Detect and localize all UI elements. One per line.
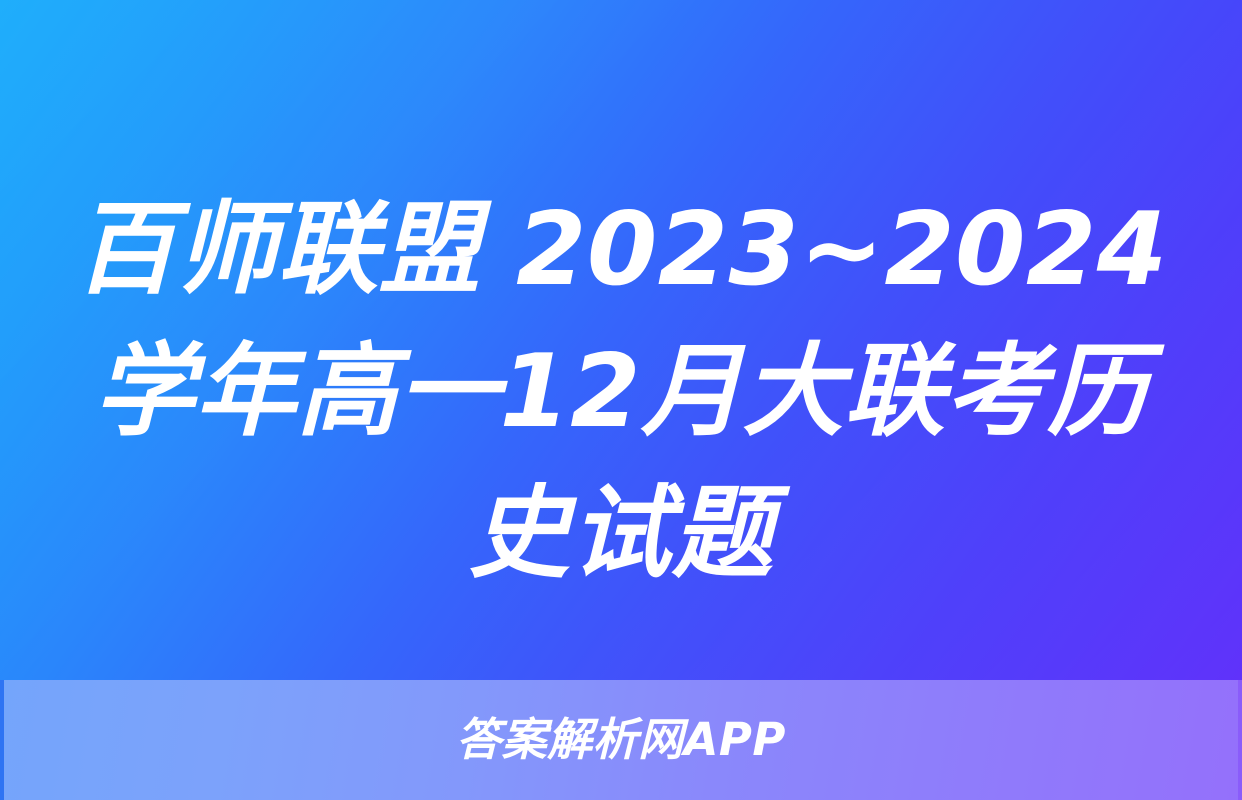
exam-paper-cover-poster: 百师联盟 2023~2024学年高一12月大联考历史试题 答案解析网APP xyxy=(0,0,1242,800)
app-watermark-band: 答案解析网APP xyxy=(0,680,1242,800)
poster-title-block: 百师联盟 2023~2024学年高一12月大联考历史试题 xyxy=(0,178,1242,604)
hero-gradient-panel: 百师联盟 2023~2024学年高一12月大联考历史试题 xyxy=(0,0,1242,680)
page-title: 百师联盟 2023~2024学年高一12月大联考历史试题 xyxy=(72,178,1170,604)
app-watermark-text: 答案解析网APP xyxy=(456,714,786,766)
